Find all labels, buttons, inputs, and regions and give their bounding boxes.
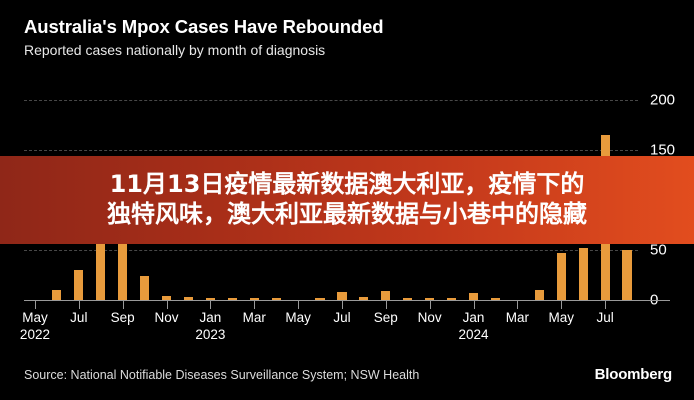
chart-subtitle: Reported cases nationally by month of di… — [24, 42, 384, 58]
y-axis-tick-label: 50 — [650, 242, 667, 259]
bar — [337, 292, 346, 300]
x-axis-tick — [254, 300, 255, 309]
overlay-headline-line-1: 11月13日疫情最新数据澳大利亚，疫情下的 — [110, 170, 585, 200]
source-note: Source: National Notifiable Diseases Sur… — [24, 368, 419, 382]
bar — [118, 236, 127, 300]
bloomberg-logo: Bloomberg — [595, 366, 672, 383]
bar — [381, 291, 390, 300]
x-axis: May2022JulSepNovJan2023MarMayJulSepNovJa… — [24, 300, 638, 360]
x-axis-tick — [35, 300, 36, 309]
x-axis-tick-label: May — [22, 310, 48, 325]
x-axis-year-label: 2023 — [195, 327, 225, 342]
headline-overlay-banner: 11月13日疫情最新数据澳大利亚，疫情下的 独特风味，澳大利亚最新数据与小巷中的… — [0, 156, 694, 244]
x-axis-tick — [605, 300, 606, 309]
chart-root: Australia's Mpox Cases Have Rebounded Re… — [0, 0, 694, 400]
x-axis-tick-label: Jul — [596, 310, 613, 325]
x-axis-tick-label: Sep — [374, 310, 398, 325]
x-axis-tick-label: May — [548, 310, 574, 325]
chart-header: Australia's Mpox Cases Have Rebounded Re… — [24, 16, 384, 58]
y-axis-tick-label: 200 — [650, 92, 675, 109]
x-axis-tick — [210, 300, 211, 309]
x-axis-tick-label: Jul — [70, 310, 87, 325]
x-axis-tick-label: Mar — [506, 310, 529, 325]
x-axis-tick-label: May — [285, 310, 311, 325]
x-axis-tick — [342, 300, 343, 309]
bar — [96, 242, 105, 300]
x-axis-tick — [561, 300, 562, 309]
bar — [469, 293, 478, 300]
x-axis-tick-label: Mar — [243, 310, 266, 325]
x-axis-year-label: 2022 — [20, 327, 50, 342]
bar — [140, 276, 149, 300]
x-axis-tick — [386, 300, 387, 309]
x-axis-tick — [167, 300, 168, 309]
x-axis-tick — [517, 300, 518, 309]
bar — [622, 250, 631, 300]
overlay-headline-line-2: 独特风味，澳大利亚最新数据与小巷中的隐藏 — [107, 200, 587, 230]
x-axis-tick-label: Nov — [418, 310, 442, 325]
bar — [579, 248, 588, 300]
x-axis-tick — [430, 300, 431, 309]
x-axis-tick-label: Jan — [200, 310, 222, 325]
bar — [557, 253, 566, 300]
bar — [535, 290, 544, 300]
bar — [74, 270, 83, 300]
x-axis-tick-label: Jul — [333, 310, 350, 325]
x-axis-tick — [79, 300, 80, 309]
x-axis-tick — [298, 300, 299, 309]
x-axis-tick-label: Sep — [111, 310, 135, 325]
x-axis-tick — [123, 300, 124, 309]
x-axis-tick — [474, 300, 475, 309]
x-axis-tick-label: Nov — [155, 310, 179, 325]
x-axis-tick-label: Jan — [463, 310, 485, 325]
x-axis-year-label: 2024 — [459, 327, 489, 342]
bar — [52, 290, 61, 300]
page-title: Australia's Mpox Cases Have Rebounded — [24, 16, 384, 38]
